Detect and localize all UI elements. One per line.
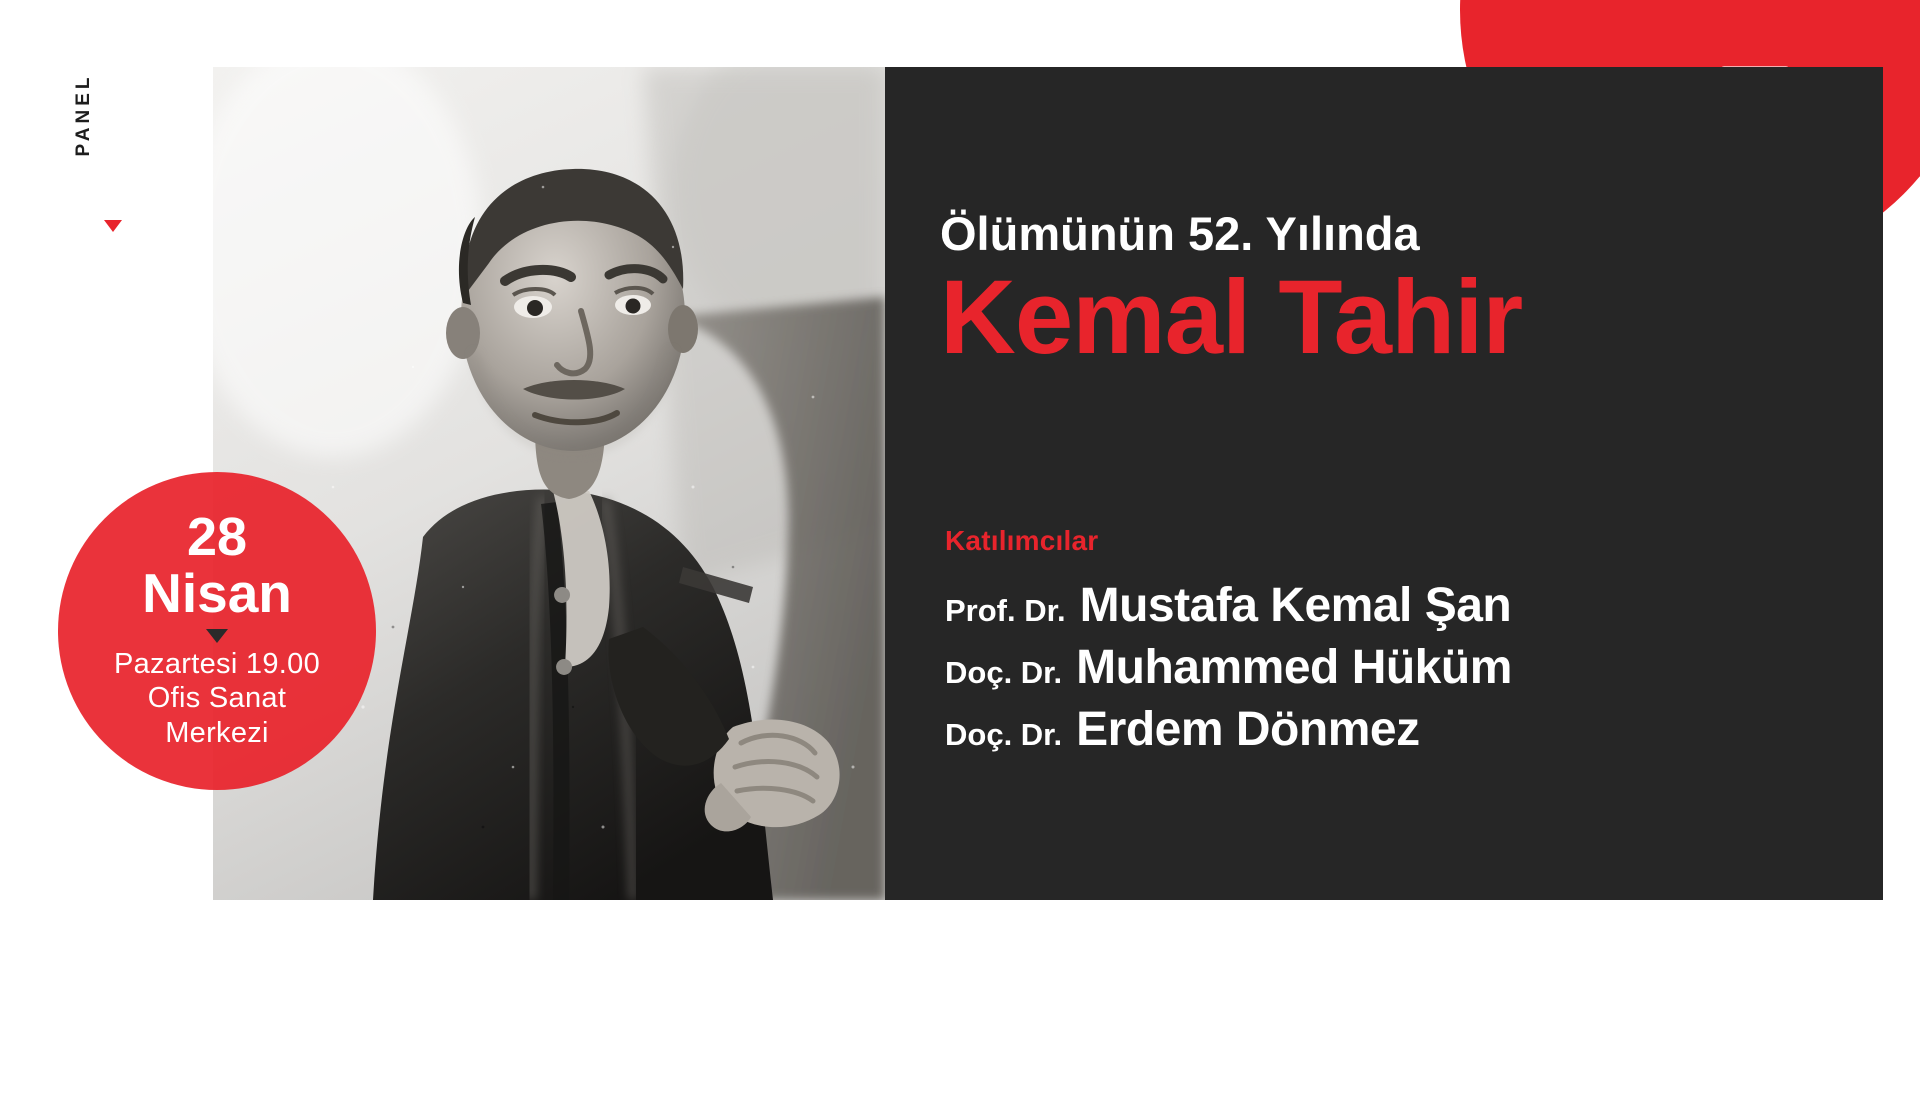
title-block: Ölümünün 52. Yılında Kemal Tahir bbox=[940, 210, 1820, 373]
poster-footer: KÜLTÜR SANAT ETKİNLİKLERİ sak bbox=[0, 900, 1920, 1097]
main-title: Kemal Tahir bbox=[940, 263, 1820, 373]
venue-line-2: Merkezi bbox=[165, 716, 269, 750]
event-poster: PANEL bbox=[0, 0, 1920, 1097]
date-month: Nisan bbox=[142, 565, 292, 623]
participant-name: Muhammed Hüküm bbox=[1076, 641, 1512, 695]
participant-name: Erdem Dönmez bbox=[1076, 703, 1419, 757]
participant-row: Doç. Dr. Erdem Dönmez bbox=[945, 703, 1845, 757]
date-weekday-time: Pazartesi 19.00 bbox=[114, 647, 320, 681]
pre-title: Ölümünün 52. Yılında bbox=[940, 210, 1820, 257]
participants-block: Katılımcılar Prof. Dr. Mustafa Kemal Şan… bbox=[945, 525, 1845, 764]
participants-heading: Katılımcılar bbox=[945, 525, 1845, 557]
participant-row: Prof. Dr. Mustafa Kemal Şan bbox=[945, 579, 1845, 633]
portrait-photo bbox=[213, 67, 885, 900]
date-separator-triangle-icon bbox=[206, 629, 228, 643]
participant-title: Doç. Dr. bbox=[945, 655, 1062, 691]
panel-triangle-icon bbox=[104, 220, 122, 232]
panel-category-label: PANEL bbox=[62, 52, 102, 212]
participant-title: Doç. Dr. bbox=[945, 717, 1062, 753]
date-badge: 28 Nisan Pazartesi 19.00 Ofis Sanat Merk… bbox=[58, 472, 376, 790]
date-day: 28 bbox=[187, 512, 247, 563]
participant-name: Mustafa Kemal Şan bbox=[1080, 579, 1512, 633]
participant-title: Prof. Dr. bbox=[945, 593, 1066, 629]
panel-label-text: PANEL bbox=[73, 45, 95, 185]
venue-line-1: Ofis Sanat bbox=[148, 681, 286, 715]
participant-row: Doç. Dr. Muhammed Hüküm bbox=[945, 641, 1845, 695]
